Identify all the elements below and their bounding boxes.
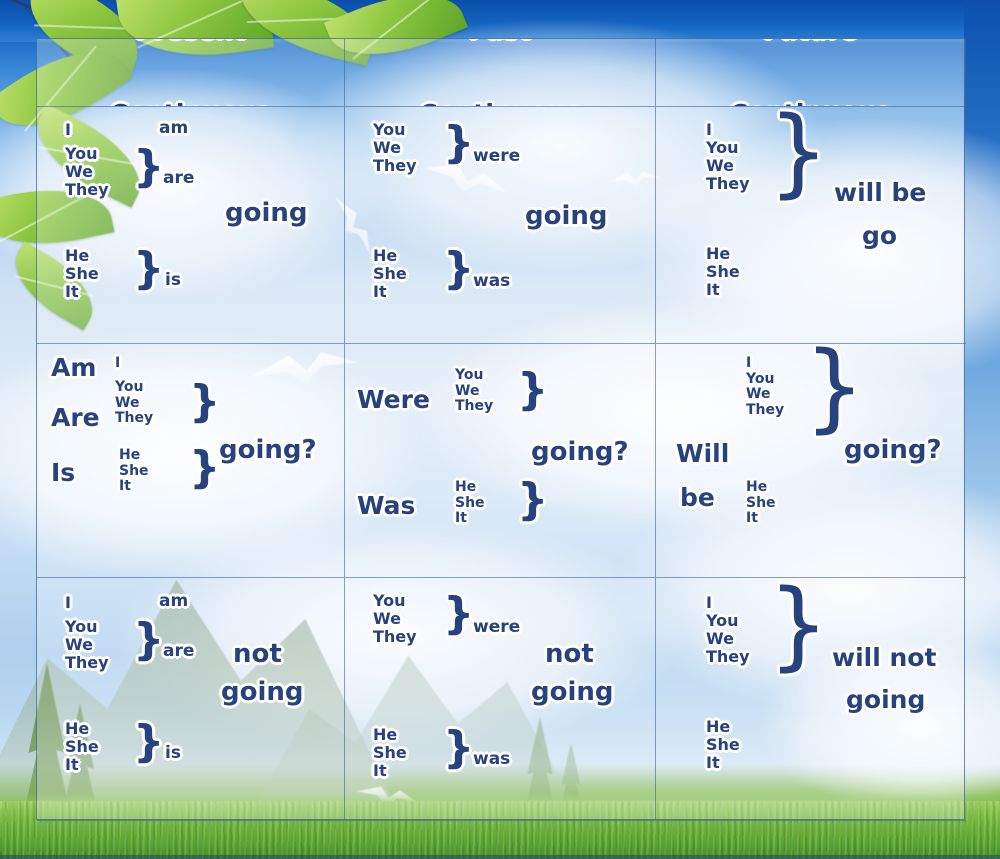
auxiliary-is: is <box>165 744 181 763</box>
auxiliary-was: was <box>473 272 510 291</box>
brace-icon: } <box>133 620 164 660</box>
subjects-third: He She It <box>455 480 485 527</box>
brace-icon: } <box>443 728 474 768</box>
subjects-third: He She It <box>119 448 149 495</box>
header-line1: Past <box>419 39 580 44</box>
subjects-plural: You We They <box>115 380 153 427</box>
verb-going: going <box>221 678 304 707</box>
auxiliary-will-be: will be <box>834 179 926 207</box>
verb-going: going <box>531 678 614 707</box>
brace-icon: } <box>133 249 164 289</box>
negation-not: not <box>233 640 282 669</box>
subjects-plural: I You We They <box>746 356 784 419</box>
header-line2: Continuous <box>730 100 891 108</box>
auxiliary-am: am <box>159 119 188 138</box>
brace-icon: } <box>133 147 164 187</box>
subjects-third: He She It <box>373 247 407 301</box>
auxiliary-is: Is <box>51 459 75 487</box>
auxiliary-are: are <box>163 642 194 661</box>
subjects-plural: You We They <box>373 121 417 175</box>
verb-going: going <box>225 199 308 228</box>
auxiliary-is: is <box>165 271 181 290</box>
verb-going: going? <box>844 436 942 465</box>
brace-icon: } <box>768 113 829 192</box>
subjects-plural: I You We They <box>706 594 750 666</box>
brace-icon: } <box>443 123 474 163</box>
cell-future-affirmative: I You We They He She It } will be go <box>656 107 966 344</box>
cell-future-negative: I You We They He She It } will not going <box>656 578 966 821</box>
subjects-plural: You We They <box>65 145 109 199</box>
auxiliary-are: Are <box>51 404 100 432</box>
subject-i: I <box>65 121 71 139</box>
subject-i: I <box>115 356 120 372</box>
subjects-third: He She It <box>706 245 740 299</box>
column-header-past: Past Continuous <box>345 39 656 107</box>
header-line2: Continuous <box>419 100 580 108</box>
header-line1: Future <box>730 39 891 44</box>
subject-i: I <box>65 594 71 612</box>
auxiliary-were: were <box>473 147 520 166</box>
poster-background: Present Continuous Past Continuous Futur… <box>0 0 1000 859</box>
sky-band-right <box>964 0 1000 600</box>
auxiliary-be: be <box>680 484 715 512</box>
header-line2: Continuous <box>110 100 271 108</box>
subjects-plural: You We They <box>455 368 493 415</box>
cell-future-question: Will be I You We They He She It } going? <box>656 344 966 578</box>
subjects-third: He She It <box>746 480 776 527</box>
subjects-third: He She It <box>373 726 407 780</box>
verb-go: go <box>862 222 897 250</box>
auxiliary-was: was <box>473 750 510 769</box>
subjects-plural: You We They <box>373 592 417 646</box>
cell-present-affirmative: I am You We They } are going He She It }… <box>37 107 345 344</box>
subjects-third: He She It <box>65 247 99 301</box>
verb-going: going? <box>531 438 629 467</box>
brace-icon: } <box>443 594 474 634</box>
cell-past-negative: You We They } were not going He She It }… <box>345 578 656 821</box>
auxiliary-are: are <box>163 169 194 188</box>
auxiliary-am: Am <box>51 354 96 382</box>
verb-going: going? <box>219 436 317 465</box>
subjects-plural: I You We They <box>706 121 750 193</box>
auxiliary-were: were <box>473 618 520 637</box>
column-header-present: Present Continuous <box>37 39 345 107</box>
subjects-third: He She It <box>65 720 99 774</box>
brace-icon: } <box>443 249 474 289</box>
subjects-plural: You We They <box>65 618 109 672</box>
brace-icon: } <box>804 348 865 427</box>
header-line1: Present <box>110 39 271 44</box>
brace-icon: } <box>517 480 548 520</box>
cell-past-question: Were Was You We They } He She It } going… <box>345 344 656 578</box>
auxiliary-will-not: will not <box>832 644 936 672</box>
auxiliary-will: Will <box>676 440 729 468</box>
cell-present-negative: I am You We They } are not going He She … <box>37 578 345 821</box>
brace-icon: } <box>189 448 220 488</box>
negation-not: not <box>545 640 594 669</box>
brace-icon: } <box>517 370 548 410</box>
brace-icon: } <box>768 586 829 665</box>
subjects-third: He She It <box>706 718 740 772</box>
column-header-future: Future Continuous <box>656 39 966 107</box>
brace-icon: } <box>189 382 220 422</box>
cell-past-affirmative: You We They } were going He She It } was <box>345 107 656 344</box>
bottom-frame <box>0 855 1000 859</box>
verb-going: going <box>846 686 925 714</box>
auxiliary-am: am <box>159 592 188 611</box>
verb-going: going <box>525 202 608 231</box>
auxiliary-were: Were <box>357 386 430 414</box>
cell-present-question: Am Are Is I You We They } He She It } go… <box>37 344 345 578</box>
grammar-table: Present Continuous Past Continuous Futur… <box>36 38 965 820</box>
brace-icon: } <box>133 722 164 762</box>
auxiliary-was: Was <box>357 492 415 520</box>
